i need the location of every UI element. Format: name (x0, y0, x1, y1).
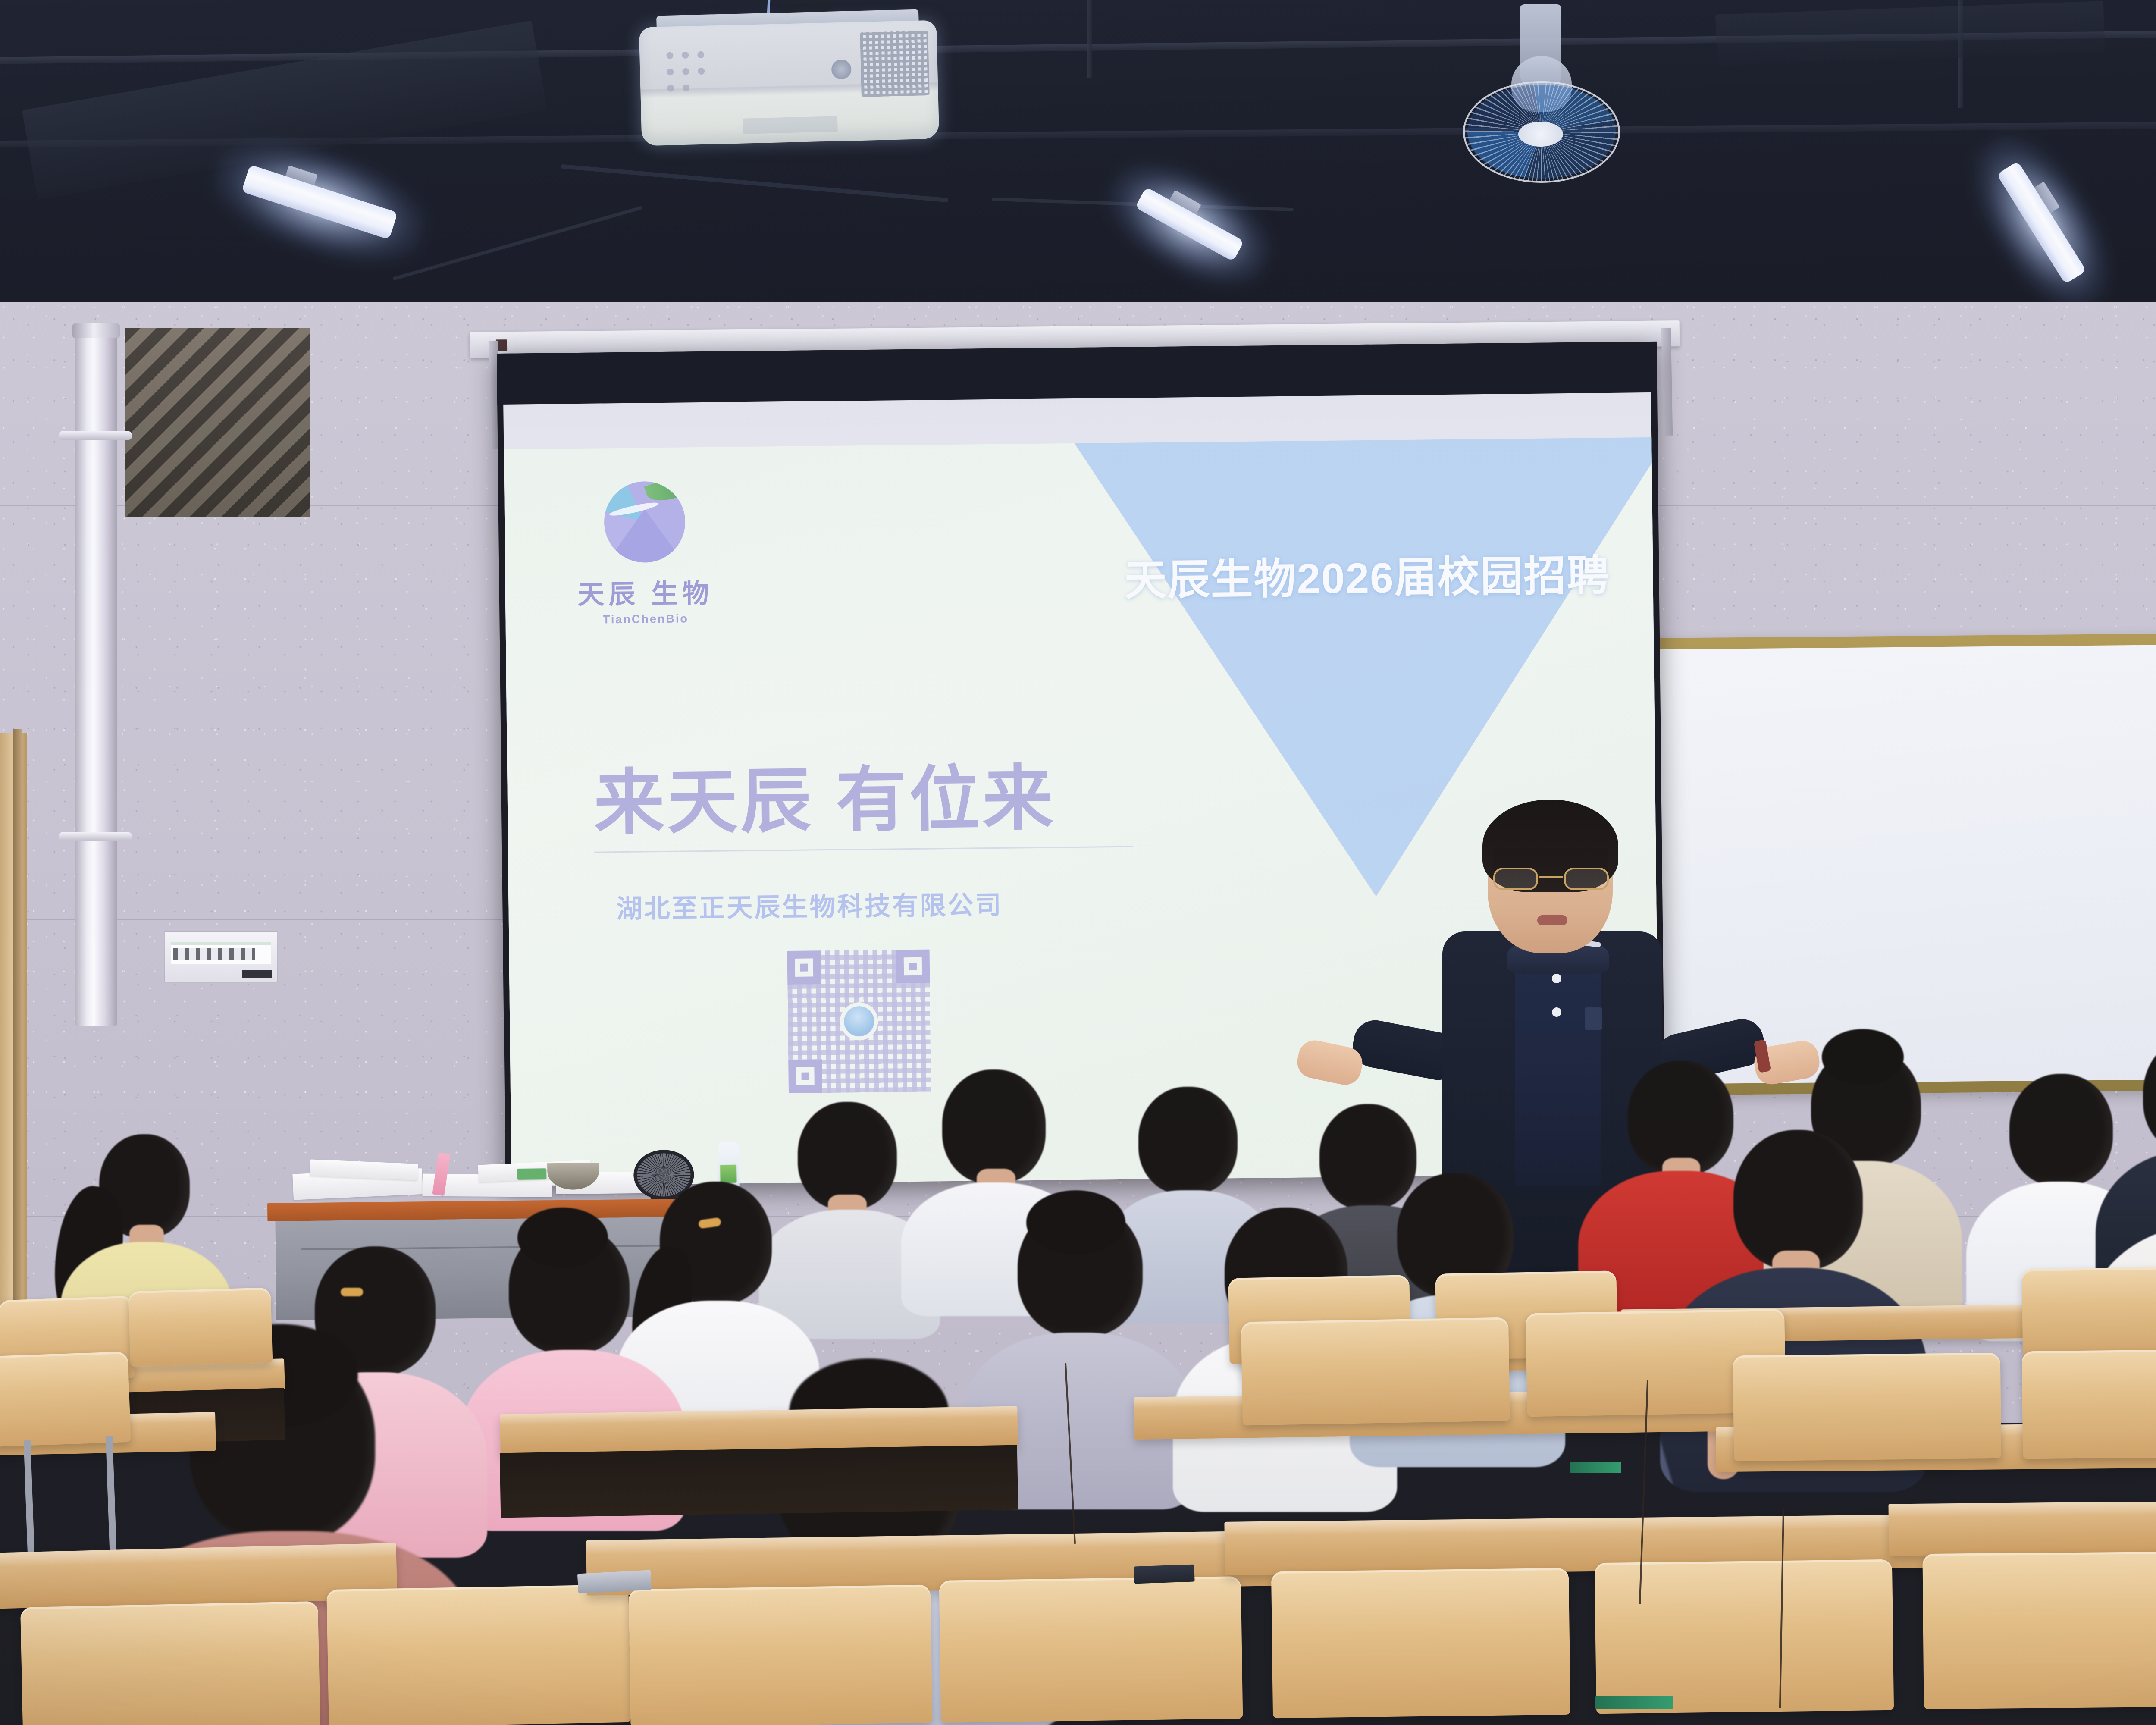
classroom-chair[interactable] (939, 1576, 1243, 1723)
classroom-chair[interactable] (2022, 1349, 2156, 1459)
projector-ports (660, 45, 712, 98)
fluorescent-tube-light (1996, 161, 2086, 284)
classroom-chair[interactable] (1922, 1551, 2156, 1709)
student-desk-row (1889, 1498, 2156, 1556)
classroom-scene: 天辰生物2026届校园招聘 天辰 生物 TianChenBio 来天辰 有位来 … (0, 0, 2156, 1725)
green-notebook (517, 1168, 546, 1180)
classroom-chair[interactable] (629, 1585, 933, 1725)
presenter-glasses-icon (1493, 868, 1609, 891)
projector-vent (860, 31, 930, 97)
electrical-panel[interactable] (164, 931, 278, 983)
desk-number-label (1595, 1696, 1673, 1709)
acoustic-foam-panel (125, 328, 310, 517)
slide-header-banner: 天辰生物2026届校园招聘 (1124, 541, 1610, 608)
classroom-chair[interactable] (0, 1352, 131, 1447)
polo-chest-logo-icon (1585, 1007, 1602, 1030)
classroom-chair[interactable] (2022, 1267, 2156, 1360)
slide-slogan: 来天辰 有位来 (593, 741, 1056, 848)
logo-english-name: TianChenBio (574, 612, 717, 627)
classroom-chair[interactable] (1271, 1568, 1570, 1718)
slide-company-name: 湖北至正天辰生物科技有限公司 (616, 884, 1003, 925)
classroom-chair[interactable] (326, 1584, 630, 1725)
phone-on-desk[interactable] (1134, 1565, 1194, 1584)
fluorescent-tube-light (1135, 187, 1244, 261)
ceiling-fan[interactable] (1447, 4, 1636, 185)
fluorescent-tube-light (241, 165, 398, 240)
desk-number-label (1570, 1462, 1621, 1473)
qr-center-logo-icon (844, 1006, 874, 1037)
fan-hub (1518, 122, 1563, 147)
classroom-chair[interactable] (128, 1287, 273, 1367)
ceiling (0, 0, 2156, 319)
company-logo: 天辰 生物 TianChenBio (573, 481, 717, 627)
classroom-chair[interactable] (1733, 1353, 2002, 1461)
logo-mark-icon (604, 481, 686, 563)
classroom-chair[interactable] (1241, 1317, 1510, 1426)
paper-on-desk (577, 1570, 652, 1594)
classroom-chair[interactable] (20, 1601, 320, 1725)
logo-chinese-name: 天辰 生物 (574, 571, 717, 612)
breaker-switches (173, 948, 255, 960)
ceiling-projector (639, 20, 940, 146)
